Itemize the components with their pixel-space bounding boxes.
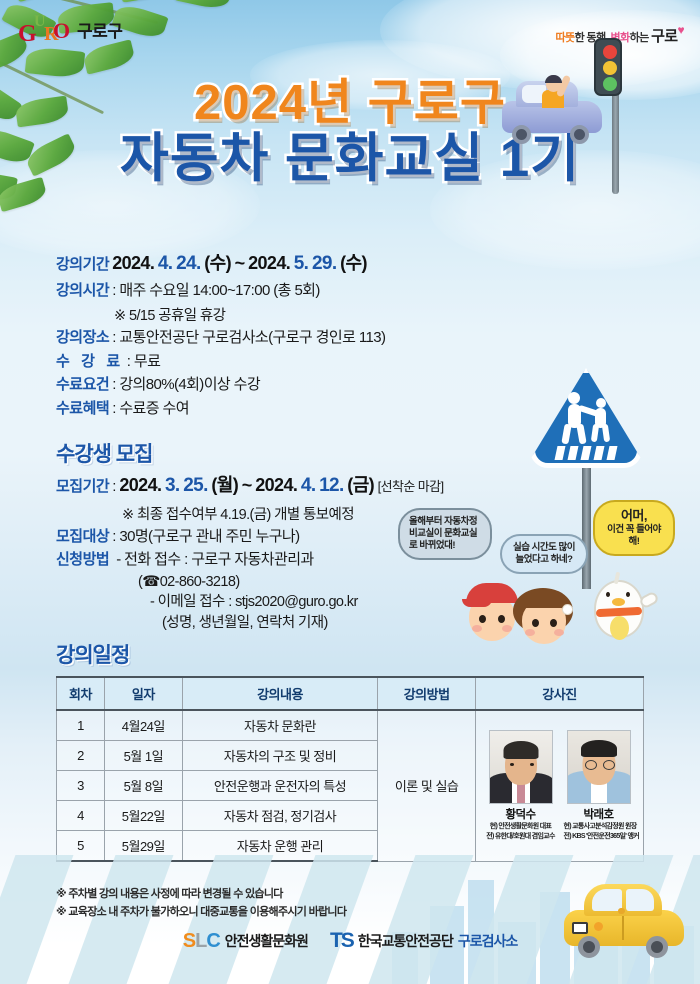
cell-number: 1 xyxy=(57,710,105,741)
cell-content: 자동차의 구조 및 정비 xyxy=(182,741,378,771)
info-value-period: 2024. 4. 24. (수) ~ 2024. 5. 29. (수) xyxy=(112,252,367,277)
recruit-row-apply: 신청방법 - 전화 접수 : 구로구 자동차관리과 xyxy=(56,550,576,570)
instructor-2-name: 박래호 xyxy=(564,806,634,822)
ts-name: 한국교통안전공단 xyxy=(358,931,453,951)
info-label-period: 강의기간 xyxy=(56,255,109,275)
schedule-table: 회차 일자 강의내용 강의방법 강사진 1 4월24일 자동차 문화란 이론 및… xyxy=(56,676,644,862)
heart-icon: ♥ xyxy=(677,23,684,37)
slc-logo: SLC 안전생활문화원 xyxy=(183,931,308,951)
table-header-row: 회차 일자 강의내용 강의방법 강사진 xyxy=(57,677,644,710)
ts-logo: TS 한국교통안전공단 구로검사소 xyxy=(330,930,517,951)
logo-letter-g: G xyxy=(18,22,35,46)
info-row-requirement: 수료요건 : 강의80%(4회)이상 수강 xyxy=(56,375,526,395)
poster-root: G U R O 구로구 따뜻한 동행, 변화하는 구로♥ 2024년 구로구 자… xyxy=(0,0,700,984)
info-row-fee: 수 강 료 : 무료 xyxy=(56,352,526,372)
th-date: 일자 xyxy=(104,677,182,710)
info-row-period: 강의기간 2024. 4. 24. (수) ~ 2024. 5. 29. (수) xyxy=(56,252,526,277)
cell-date: 5월22일 xyxy=(104,801,182,831)
kid-girl-illustration xyxy=(512,578,576,648)
cell-date: 5월 8일 xyxy=(104,771,182,801)
footer-notes: ※ 주차별 강의 내용은 사정에 따라 변경될 수 있습니다 ※ 교육장소 내 … xyxy=(56,886,346,921)
recruit-value-period: : 2024. 3. 25. (월) ~ 2024. 4. 12. (금) [선… xyxy=(112,474,443,499)
info-label-place: 강의장소 xyxy=(56,328,109,348)
recruit-apply-line-1: - 전화 접수 : 구로구 자동차관리과 xyxy=(116,550,313,570)
footer-note-1: ※ 주차별 강의 내용은 사정에 따라 변경될 수 있습니다 xyxy=(56,886,346,904)
ts-mark-icon: TS xyxy=(330,930,353,951)
recruit-value-target: : 30명(구로구 관내 주민 누구나) xyxy=(112,527,299,547)
instructor-2-role-1: 현) 교통사고분석감정원 원장 xyxy=(564,822,634,831)
footer-note-2: ※ 교육장소 내 주차가 불가하오니 대중교통을 이용해주시기 바랍니다 xyxy=(56,904,346,922)
instructor-1-photo xyxy=(489,730,553,804)
info-label-benefit: 수료혜택 xyxy=(56,399,109,419)
cell-date: 5월 1일 xyxy=(104,741,182,771)
schedule-section-title: 강의일정 xyxy=(56,639,129,669)
th-method: 강의방법 xyxy=(378,677,476,710)
instructor-1-name: 황덕수 xyxy=(486,806,556,822)
recruit-row-period: 모집기간 : 2024. 3. 25. (월) ~ 2024. 4. 12. (… xyxy=(56,474,576,499)
recruit-row-target: 모집대상 : 30명(구로구 관내 주민 누구나) xyxy=(56,527,576,547)
speech-bubble-2: 실습 시간도 많이 늘었다고 하네? xyxy=(500,534,588,574)
yellow-car-illustration xyxy=(560,880,690,966)
bubble-3-line-1: 어머, xyxy=(621,508,647,523)
guro-wordmark-icon: G U R O xyxy=(18,14,70,44)
info-value-time: : 매주 수요일 14:00~17:00 (총 5회) xyxy=(112,281,320,301)
recruit-note: ※ 최종 접수여부 4.19.(금) 개별 통보예정 xyxy=(122,503,576,524)
slc-mark-icon: SLC xyxy=(183,931,220,951)
instructor-2-role-2: 전) KBS '안전운전365일' 앵커 xyxy=(564,832,634,841)
cell-content: 안전운행과 운전자의 특성 xyxy=(182,771,378,801)
guro-gu-label: 구로구 xyxy=(77,17,122,42)
logo-letter-o: O xyxy=(53,20,68,42)
slogan-warm: 따뜻 xyxy=(556,32,575,44)
guro-gu-logo: G U R O 구로구 xyxy=(18,14,122,44)
info-value-requirement: : 강의80%(4회)이상 수강 xyxy=(112,375,260,395)
logo-letter-u: U xyxy=(34,14,44,30)
speech-bubble-3: 어머,이건 꼭 들어야해! xyxy=(593,500,675,556)
instructor-1: 황덕수 현) 안전생활문화원 대표 전) 유한대/호원대 겸임교수 xyxy=(486,730,556,841)
cell-content: 자동차 문화란 xyxy=(182,710,378,741)
blue-car-illustration xyxy=(500,75,610,147)
instructor-2: 박래호 현) 교통사고분석감정원 원장 전) KBS '안전운전365일' 앵커 xyxy=(564,730,634,841)
th-instructors: 강사진 xyxy=(476,677,644,710)
table-row: 1 4월24일 자동차 문화란 이론 및 실습 xyxy=(57,710,644,741)
traffic-light-red xyxy=(603,45,617,59)
info-value-place: : 교통안전공단 구로검사소(구로구 경인로 113) xyxy=(112,328,385,348)
instructor-1-role-1: 현) 안전생활문화원 대표 xyxy=(486,822,556,831)
bubble-3-line-2: 이건 꼭 들어야해! xyxy=(607,524,661,547)
slc-name: 안전생활문화원 xyxy=(225,931,308,951)
slogan-part2: 하는 xyxy=(630,32,652,44)
info-label-time: 강의시간 xyxy=(56,281,109,301)
instructor-2-photo xyxy=(567,730,631,804)
th-content: 강의내용 xyxy=(182,677,378,710)
info-value-fee: : 무료 xyxy=(127,352,161,372)
info-label-fee: 수 강 료 xyxy=(56,352,124,372)
course-info-block: 강의기간 2024. 4. 24. (수) ~ 2024. 5. 29. (수)… xyxy=(56,252,526,422)
recruit-label-target: 모집대상 xyxy=(56,527,109,547)
recruit-label-apply: 신청방법 xyxy=(56,550,109,570)
info-label-requirement: 수료요건 xyxy=(56,375,109,395)
info-row-benefit: 수료혜택 : 수료증 수여 xyxy=(56,399,526,419)
recruitment-section-title: 수강생 모집 xyxy=(56,438,576,468)
recruit-label-period: 모집기간 xyxy=(56,477,109,497)
cell-date: 4월24일 xyxy=(104,710,182,741)
cell-method: 이론 및 실습 xyxy=(378,710,476,861)
info-row-time: 강의시간 : 매주 수요일 14:00~17:00 (총 5회) xyxy=(56,281,526,301)
cell-number: 3 xyxy=(57,771,105,801)
th-number: 회차 xyxy=(57,677,105,710)
ts-branch-name: 구로검사소 xyxy=(458,931,517,951)
cell-content: 자동차 점검, 정기검사 xyxy=(182,801,378,831)
cell-instructors: 황덕수 현) 안전생활문화원 대표 전) 유한대/호원대 겸임교수 xyxy=(476,710,644,861)
instructor-1-role-2: 전) 유한대/호원대 겸임교수 xyxy=(486,832,556,841)
cell-number: 2 xyxy=(57,741,105,771)
info-note-holiday: ※ 5/15 공휴일 휴강 xyxy=(114,304,526,325)
info-row-place: 강의장소 : 교통안전공단 구로검사소(구로구 경인로 113) xyxy=(56,328,526,348)
slogan-brand: 구로 xyxy=(651,28,677,45)
traffic-light-yellow xyxy=(603,61,617,75)
speech-bubble-1: 올해부터 자동차정비교실이 문화교실로 바뀌었대! xyxy=(398,508,492,560)
info-value-benefit: : 수료증 수여 xyxy=(112,399,189,419)
schedule-table-wrap: 회차 일자 강의내용 강의방법 강사진 1 4월24일 자동차 문화란 이론 및… xyxy=(56,676,644,862)
cell-number: 4 xyxy=(57,801,105,831)
duck-mascot-illustration xyxy=(588,570,660,650)
